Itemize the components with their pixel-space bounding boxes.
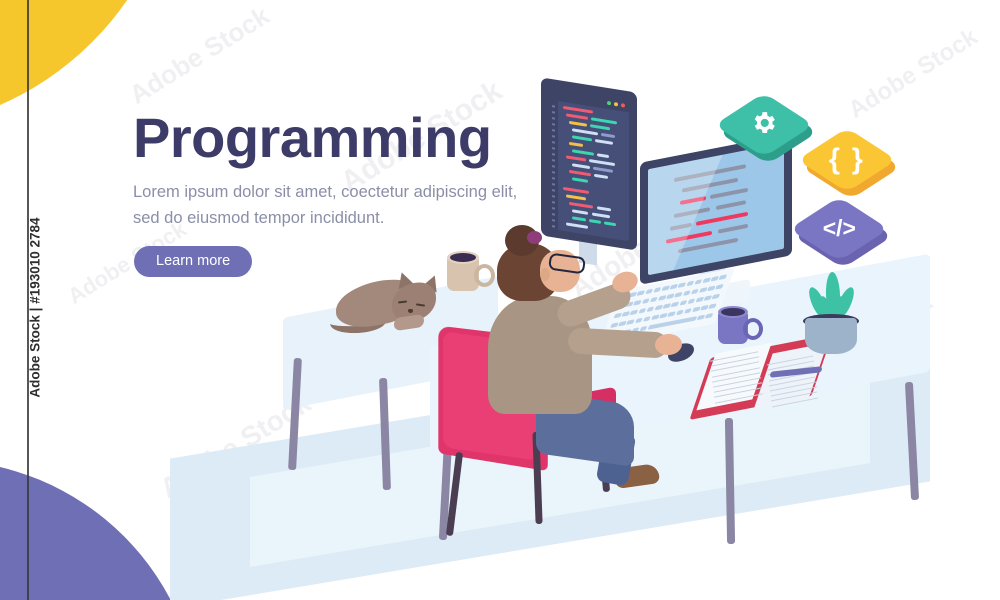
code-line	[569, 202, 593, 209]
code-line	[572, 209, 588, 215]
keyboard-key[interactable]	[684, 308, 692, 314]
keyboard-key[interactable]	[645, 289, 653, 295]
code-line	[569, 121, 587, 127]
keyboard-key[interactable]	[707, 286, 715, 292]
code-line	[566, 113, 588, 120]
learn-more-button[interactable]: Learn more	[134, 246, 252, 277]
ear	[540, 268, 550, 281]
keyboard-key[interactable]	[666, 294, 674, 300]
watermark-ghost: Adobe Stock	[844, 23, 983, 124]
code-line	[572, 128, 598, 135]
keyboard-key[interactable]	[705, 313, 713, 319]
gutter-line-number	[552, 159, 555, 161]
keyboard-key[interactable]	[667, 311, 675, 317]
gutter-line-number	[552, 105, 555, 107]
keyboard-key[interactable]	[687, 298, 695, 304]
gutter-line-number	[552, 171, 555, 173]
hair-tie	[527, 231, 542, 244]
traffic-light-green[interactable]	[607, 101, 611, 106]
code-line	[594, 174, 608, 179]
keyboard-key[interactable]	[622, 311, 630, 317]
keyboard-key[interactable]	[630, 310, 638, 316]
keyboard-key[interactable]	[679, 300, 687, 306]
curly-braces-icon: { }	[829, 144, 865, 176]
keyboard-key[interactable]	[695, 297, 703, 303]
page-subtitle: Lorem ipsum dolor sit amet, coectetur ad…	[133, 180, 533, 231]
code-monitor-screen[interactable]	[549, 87, 629, 242]
keyboard-key[interactable]	[626, 319, 634, 325]
gutter-line-number	[552, 117, 555, 119]
keyboard-key[interactable]	[708, 303, 716, 309]
gutter-line-number	[552, 153, 555, 155]
code-line	[563, 187, 589, 194]
code-line	[601, 133, 615, 138]
gutter-line-number	[552, 141, 555, 143]
keyboard-key[interactable]	[691, 289, 699, 295]
code-line	[572, 149, 594, 156]
code-line	[595, 139, 613, 145]
gutter-line-number	[552, 195, 555, 197]
watermark-text: Adobe Stock | #193010 2784	[28, 178, 43, 438]
keyboard-key[interactable]	[642, 298, 650, 304]
keyboard-key[interactable]	[694, 279, 702, 285]
code-line	[566, 222, 588, 229]
mug-purple-coffee	[721, 308, 745, 316]
keyboard-key[interactable]	[650, 297, 658, 303]
keyboard-key[interactable]	[670, 284, 678, 290]
code-line	[589, 219, 601, 224]
keyboard-key[interactable]	[659, 313, 667, 319]
keyboard-key[interactable]	[637, 290, 645, 296]
keyboard-key[interactable]	[711, 276, 719, 282]
keyboard-key[interactable]	[671, 302, 679, 308]
code-line	[591, 117, 617, 124]
mug-purple-handle	[743, 318, 763, 340]
gutter-line-number	[552, 165, 555, 167]
gutter-line-number	[552, 207, 555, 209]
code-line	[597, 153, 609, 158]
code-line	[572, 216, 586, 221]
code-line	[569, 142, 583, 147]
keyboard-key[interactable]	[646, 306, 654, 312]
code-line	[593, 167, 613, 173]
keyboard-key[interactable]	[697, 315, 705, 321]
arm-to-mouse	[567, 327, 668, 358]
keyboard-key[interactable]	[686, 281, 694, 287]
keyboard-key[interactable]	[633, 300, 641, 306]
keyboard-key[interactable]	[702, 278, 710, 284]
keyboard-key[interactable]	[610, 322, 618, 328]
keyboard-key[interactable]	[653, 287, 661, 293]
keyboard-key[interactable]	[638, 308, 646, 314]
gutter-line-number	[552, 123, 555, 125]
keyboard-key[interactable]	[715, 284, 723, 290]
gutter-line-number	[552, 111, 555, 113]
mug-beige-handle	[474, 264, 495, 287]
keyboard-key[interactable]	[700, 305, 708, 311]
gutter-line-number	[552, 189, 555, 191]
keyboard-key[interactable]	[719, 274, 727, 280]
gutter-line-number	[552, 135, 555, 137]
gutter-line-number	[552, 183, 555, 185]
gear-icon	[750, 108, 779, 141]
keyboard-key[interactable]	[674, 292, 682, 298]
code-line	[590, 124, 610, 130]
traffic-light-red[interactable]	[621, 103, 625, 108]
keyboard-key[interactable]	[658, 295, 666, 301]
code-line	[592, 212, 610, 218]
mug-beige-coffee	[450, 253, 476, 262]
illustration-canvas: Adobe StockAdobe StockAdobe StockAdobe S…	[0, 0, 1000, 600]
gutter-line-number	[552, 201, 555, 203]
plant-pot	[805, 318, 857, 354]
code-line	[572, 177, 588, 183]
keyboard-key[interactable]	[613, 313, 621, 319]
keyboard-key[interactable]	[635, 318, 643, 324]
code-line	[569, 170, 591, 177]
gutter-line-number	[552, 129, 555, 131]
keyboard-key[interactable]	[692, 307, 700, 313]
gutter-line-number	[552, 147, 555, 149]
gutter-line-number	[552, 177, 555, 179]
keyboard-key[interactable]	[663, 303, 671, 309]
traffic-light-yellow[interactable]	[614, 102, 618, 107]
watermark-ghost: Adobe Stock	[124, 0, 275, 111]
keyboard-key[interactable]	[704, 295, 712, 301]
keyboard-key[interactable]	[651, 314, 659, 320]
code-editor-gutter	[549, 100, 558, 230]
code-line	[566, 155, 586, 161]
gutter-line-number	[552, 225, 555, 227]
keyboard-key[interactable]	[683, 290, 691, 296]
keyboard-key[interactable]	[689, 316, 697, 322]
curly-braces-badge[interactable]: { }	[818, 131, 880, 193]
keyboard-key[interactable]	[678, 282, 686, 288]
gutter-line-number	[552, 219, 555, 221]
keyboard-key[interactable]	[676, 310, 684, 316]
keyboard-key[interactable]	[654, 305, 662, 311]
keyboard-key[interactable]	[712, 294, 720, 300]
keyboard-key[interactable]	[618, 321, 626, 327]
code-line	[566, 194, 586, 200]
code-line	[604, 221, 616, 226]
keyboard-key[interactable]	[643, 316, 651, 322]
keyboard-key[interactable]	[699, 287, 707, 293]
keyboard-key[interactable]	[661, 285, 669, 291]
page-title: Programming	[133, 110, 492, 166]
code-line	[589, 159, 615, 166]
code-tag-icon: </>	[822, 216, 855, 243]
code-line	[572, 163, 590, 169]
code-tag-badge[interactable]: </>	[810, 200, 872, 262]
cat-nose	[408, 309, 413, 313]
code-line	[572, 135, 592, 141]
settings-gear-badge[interactable]	[735, 96, 797, 158]
code-line	[597, 206, 611, 211]
gutter-line-number	[552, 213, 555, 215]
